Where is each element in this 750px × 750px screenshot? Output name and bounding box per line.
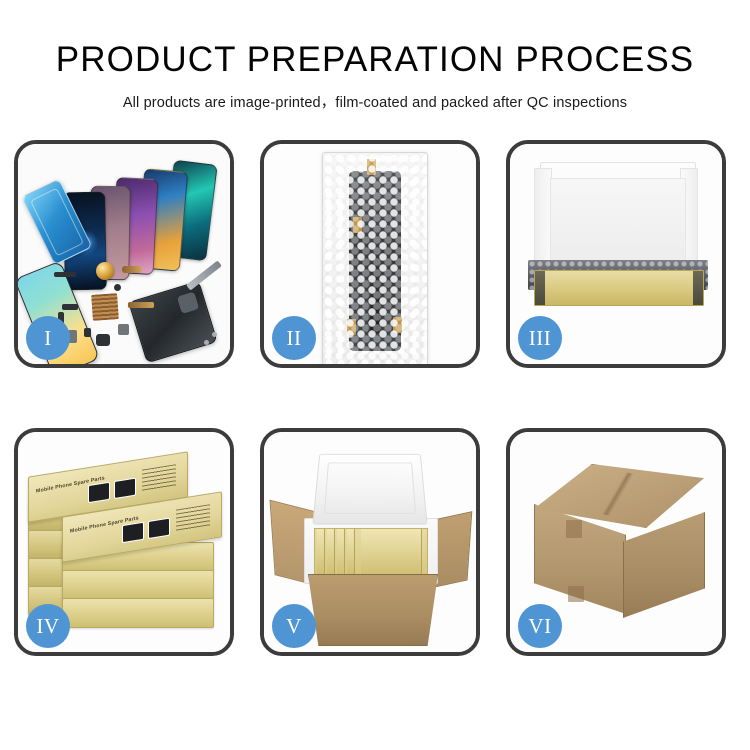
chip-component-icon — [91, 293, 119, 321]
screw-icon — [212, 332, 217, 337]
packed-box-slat — [361, 529, 422, 575]
flex-cable-icon — [128, 302, 154, 308]
step-badge-6: VI — [518, 604, 562, 648]
flex-cable-icon — [122, 266, 142, 273]
tape-strip-icon — [353, 217, 362, 233]
packed-box-slat — [327, 529, 335, 575]
part-bar-icon — [54, 272, 76, 277]
step-badge-2: II — [272, 316, 316, 360]
page-header: PRODUCT PREPARATION PROCESS All products… — [0, 0, 750, 112]
tape-strip-icon — [347, 319, 356, 335]
step-card-6[interactable]: VI — [506, 428, 726, 656]
box-spec-lines — [142, 464, 176, 491]
packed-box-slat — [337, 529, 345, 575]
camera-module-icon — [118, 324, 129, 335]
box-window-icon — [148, 518, 170, 539]
box-window-icon — [114, 478, 136, 499]
step-card-1[interactable]: I — [14, 140, 234, 368]
button-part-icon — [114, 284, 121, 291]
step-badge-3: III — [518, 316, 562, 360]
speaker-icon — [96, 334, 110, 346]
screw-icon — [204, 340, 209, 345]
bubble-wrap-bag — [322, 152, 428, 364]
tape-strip-icon — [367, 159, 376, 175]
carton-face-right — [623, 512, 705, 618]
step-card-2[interactable]: II — [260, 140, 480, 368]
box-window-icon — [88, 482, 110, 503]
process-step-grid: I II III — [14, 140, 736, 656]
stacked-box — [62, 570, 214, 600]
step-card-3[interactable]: III — [506, 140, 726, 368]
packed-box-slat — [347, 529, 355, 575]
step-badge-1: I — [26, 316, 70, 360]
step-badge-4: IV — [26, 604, 70, 648]
box-end-right — [693, 271, 703, 305]
step-card-5[interactable]: V — [260, 428, 480, 656]
carton-tape-patch — [566, 520, 582, 538]
box-window-icon — [122, 522, 144, 543]
foam-cooler-lid — [312, 454, 427, 525]
box-end-left — [535, 271, 545, 305]
packed-box-slat — [317, 529, 325, 575]
carton-tape-patch — [568, 586, 584, 602]
page-subtitle: All products are image-printed，film-coat… — [0, 79, 750, 112]
coil-component-icon — [96, 262, 114, 280]
kraft-box-tray — [534, 270, 704, 306]
page-title: PRODUCT PREPARATION PROCESS — [0, 0, 750, 79]
part-bar-icon — [62, 304, 78, 310]
carton-body — [308, 574, 438, 646]
part-bar-icon — [84, 328, 91, 337]
stacked-box — [62, 598, 214, 628]
wrapped-flex-cable — [368, 213, 380, 333]
packed-boxes — [314, 528, 428, 576]
step-card-4[interactable]: Mobile Phone Spare Parts Mobile Phone Sp… — [14, 428, 234, 656]
tape-strip-icon — [393, 317, 402, 333]
foam-sheet — [550, 178, 686, 262]
step-badge-5: V — [272, 604, 316, 648]
box-spec-lines — [176, 504, 210, 531]
